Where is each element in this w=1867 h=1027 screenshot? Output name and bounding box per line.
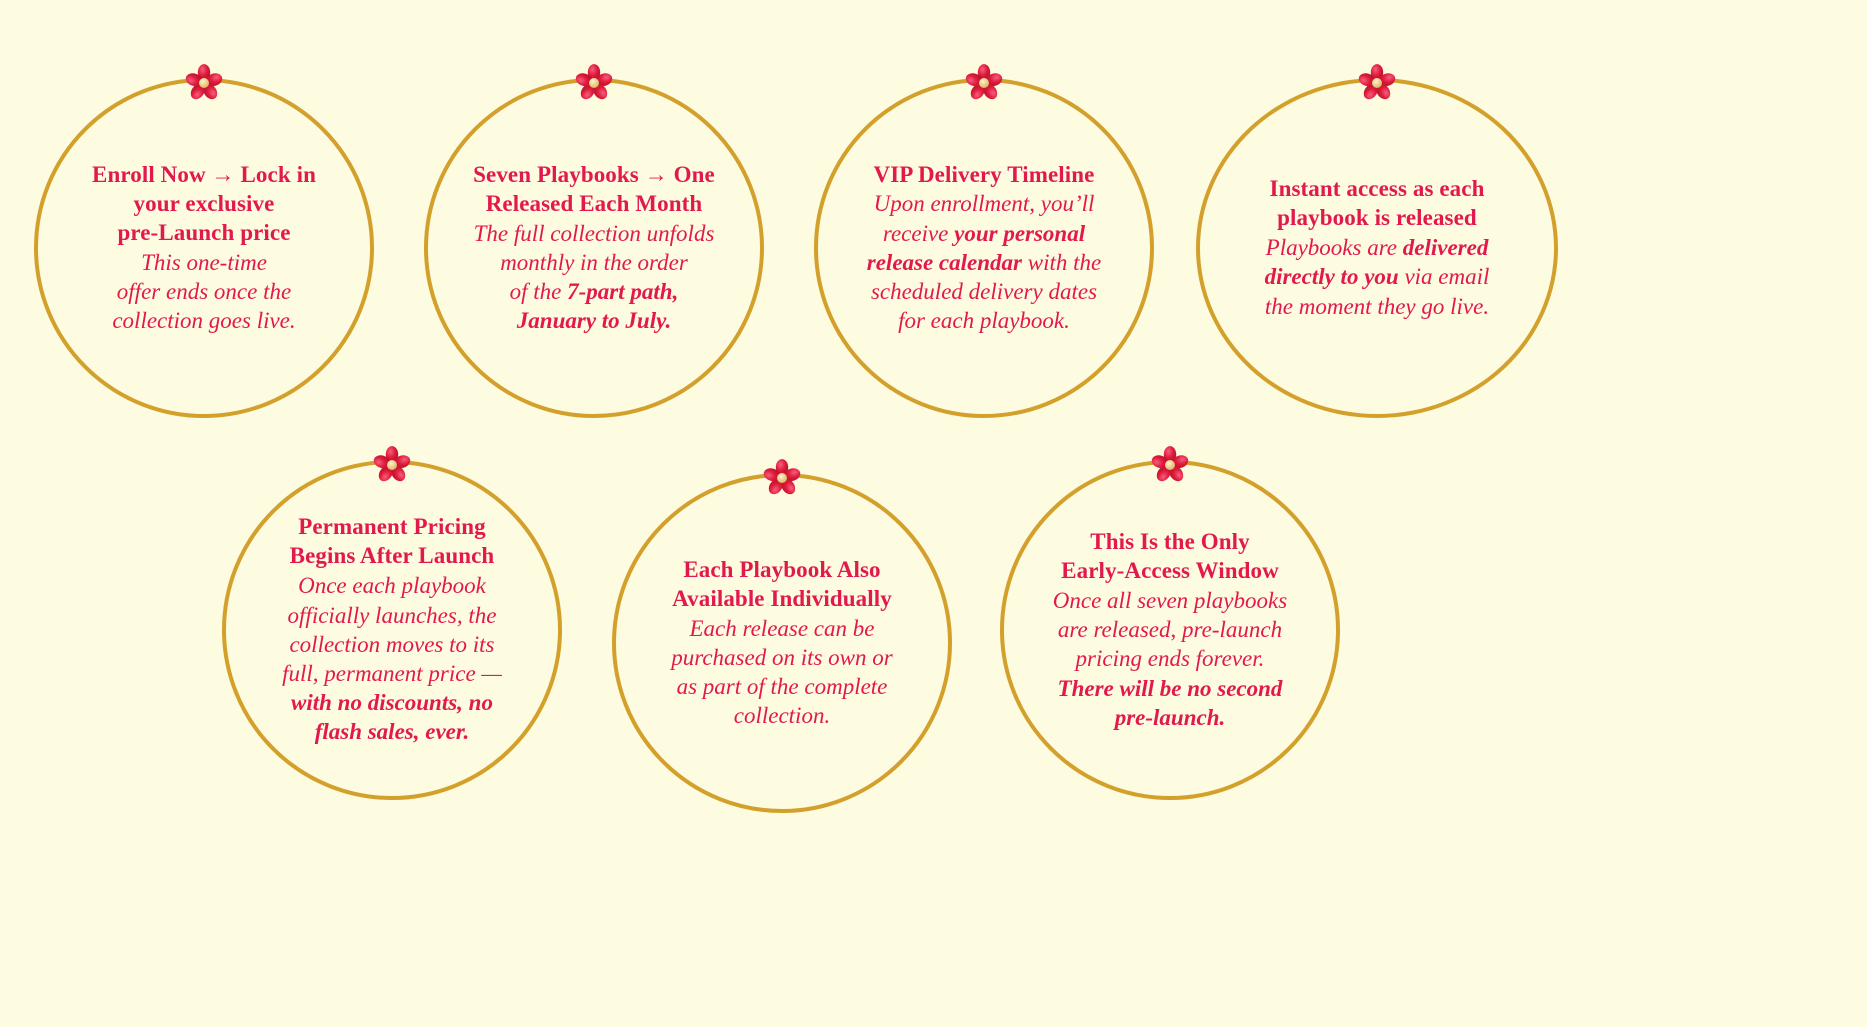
card-body: Playbooks are delivereddirectly to you v… (1232, 233, 1522, 321)
hoop-card-available-individually: Each Playbook AlsoAvailable Individually… (612, 473, 952, 813)
card-body: Each release can bepurchased on its own … (653, 614, 912, 731)
hoop-card-only-early-access-window: This Is the OnlyEarly-Access Window Once… (1000, 460, 1340, 800)
card-heading: This Is the OnlyEarly-Access Window (1041, 528, 1300, 586)
hoop-card-text: This Is the OnlyEarly-Access Window Once… (1041, 528, 1300, 732)
hoop-card-seven-playbooks: Seven Playbooks → OneReleased Each Month… (424, 78, 764, 418)
hoop-card-instant-access: Instant access as eachplaybook is releas… (1196, 78, 1558, 418)
hoop-card-text: Each Playbook AlsoAvailable Individually… (653, 556, 912, 731)
card-body: Once each playbookofficially launches, t… (263, 571, 522, 746)
hoop-card-text: Permanent PricingBegins After Launch Onc… (263, 513, 522, 746)
card-body: This one-timeoffer ends once thecollecti… (75, 248, 334, 336)
flower-icon (182, 63, 226, 103)
hoop-card-text: Enroll Now → Lock inyour exclusivepre-La… (75, 161, 334, 336)
card-heading: Permanent PricingBegins After Launch (263, 513, 522, 571)
flower-icon (572, 63, 616, 103)
card-heading: VIP Delivery Timeline (855, 161, 1114, 190)
card-body: Once all seven playbooksare released, pr… (1041, 586, 1300, 732)
card-body: The full collection unfoldsmonthly in th… (465, 219, 724, 336)
hoop-card-permanent-pricing: Permanent PricingBegins After Launch Onc… (222, 460, 562, 800)
hoop-card-text: VIP Delivery Timeline Upon enrollment, y… (855, 161, 1114, 336)
flower-icon (1148, 445, 1192, 485)
card-heading: Enroll Now → Lock inyour exclusivepre-La… (75, 161, 334, 248)
hoop-card-text: Seven Playbooks → OneReleased Each Month… (465, 161, 724, 336)
card-heading: Seven Playbooks → OneReleased Each Month (465, 161, 724, 219)
hoop-card-vip-delivery-timeline: VIP Delivery Timeline Upon enrollment, y… (814, 78, 1154, 418)
card-heading: Instant access as eachplaybook is releas… (1232, 175, 1522, 233)
hoop-card-text: Instant access as eachplaybook is releas… (1232, 175, 1522, 321)
card-heading: Each Playbook AlsoAvailable Individually (653, 556, 912, 614)
card-body: Upon enrollment, you’llreceive your pers… (855, 189, 1114, 335)
flower-icon (370, 445, 414, 485)
flower-icon (1355, 63, 1399, 103)
hoop-card-enroll-now: Enroll Now → Lock inyour exclusivepre-La… (34, 78, 374, 418)
infographic-canvas: Enroll Now → Lock inyour exclusivepre-La… (0, 0, 1867, 1027)
flower-icon (760, 458, 804, 498)
flower-icon (962, 63, 1006, 103)
